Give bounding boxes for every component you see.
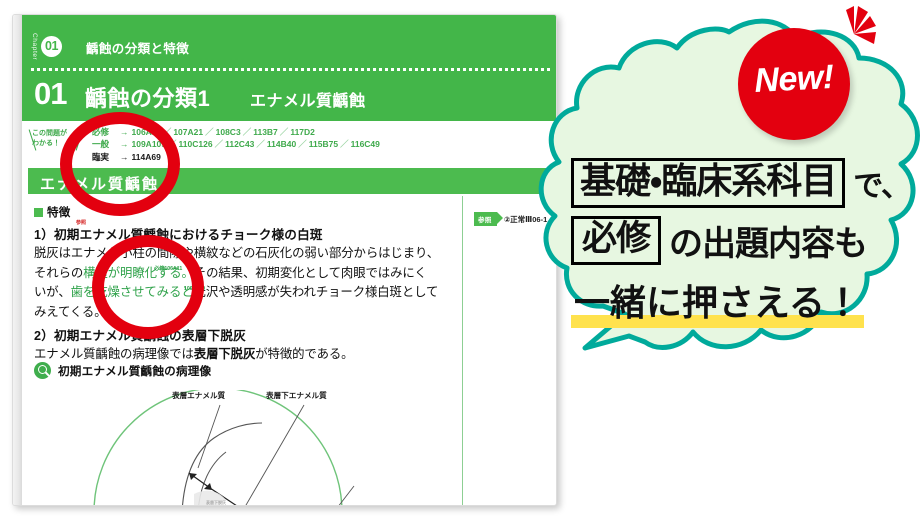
chapter-kicker-label: Chapter xyxy=(31,33,38,60)
ref-item: 114B40 xyxy=(267,139,296,149)
column-divider xyxy=(462,196,463,506)
item-2-number: 2） xyxy=(34,329,54,343)
item-1-text: 初期エナメル質齲蝕におけるチョーク様の白斑 xyxy=(54,228,323,242)
ref-separator: ／ xyxy=(254,139,267,149)
ref-separator: ／ xyxy=(203,127,216,137)
figure-label-subsurface-enamel: 表層下エナメル質 xyxy=(266,390,327,401)
svg-text:表層下脱灰: 表層下脱灰 xyxy=(206,499,226,505)
paragraph-line-3a: いが、 xyxy=(34,285,71,299)
ref-item: 116C49 xyxy=(351,139,380,149)
callout-line-2: 必修 の出題内容も xyxy=(571,216,891,265)
callout-line-1-tail: で、 xyxy=(853,161,910,205)
callout-text-block: 基礎・臨床系科目 で、 必修 の出題内容も 一緒に押さえる！ xyxy=(571,158,891,328)
ref-item: 115B75 xyxy=(309,139,338,149)
item-1-heading: 参照 1）初期エナメル質齲蝕におけるチョーク様の白斑 xyxy=(34,224,454,243)
page-body: 特徴 参照 1）初期エナメル質齲蝕におけるチョーク様の白斑 必修106A11 1… xyxy=(22,194,556,506)
red-circle-annotation-body-text xyxy=(92,235,204,339)
ref-separator: ／ xyxy=(213,139,226,149)
textbook-page-card: Chapter 01 齲蝕の分類と特徴 01 齲蝕の分類1 エナメル質齲蝕 この… xyxy=(12,14,557,506)
ref-item: 108C3 xyxy=(216,127,241,137)
figure-heading-text: 初期エナメル質齲蝕の病理像 xyxy=(58,363,211,379)
callout-boxed-subjects: 基礎・臨床系科目 xyxy=(571,158,845,208)
reference-chip: 参照 xyxy=(474,212,497,226)
chapter-band: Chapter 01 齲蝕の分類と特徴 xyxy=(22,15,556,71)
new-badge: New! xyxy=(738,28,850,140)
lesson-number: 01 xyxy=(34,76,66,112)
ref-item: 113B7 xyxy=(253,127,278,137)
ref-separator: ／ xyxy=(296,139,309,149)
ref-separator: ／ xyxy=(338,139,351,149)
lesson-title-sub: エナメル質齲蝕 xyxy=(250,87,366,111)
chapter-number-badge: 01 xyxy=(41,36,62,57)
ref-item: 107A21 xyxy=(173,127,203,137)
chapter-title: 齲蝕の分類と特徴 xyxy=(86,38,189,57)
item-1-number: 1） xyxy=(34,228,54,242)
paragraph-2a: エナメル質齲蝕の病理像では xyxy=(34,347,194,361)
paragraph-line-1: 脱灰はエナメル小柱の間隙や横紋などの石灰化の弱い部分からはじまり、 xyxy=(34,246,439,260)
item-2-heading: 2）初期エナメル質齲蝕の表層下脱灰 xyxy=(34,325,454,344)
ruby-annotation: 参照 xyxy=(76,219,86,226)
ref-item: 110C126 xyxy=(179,139,213,149)
figure-heading: 初期エナメル質齲蝕の病理像 xyxy=(34,362,211,379)
paragraph-line-2b: その結果、初期変化として肉眼ではみにく xyxy=(194,266,427,280)
paragraph-2b: が特徴的である。 xyxy=(255,347,353,361)
page-spine xyxy=(13,15,22,505)
paragraph-2-bold: 表層下脱灰 xyxy=(194,347,255,361)
paragraph-line-3b: 光沢や透明感が失われチョーク様白斑として xyxy=(194,285,439,299)
callout-boxed-required: 必修 xyxy=(571,216,661,265)
ref-separator: ／ xyxy=(278,127,291,137)
lesson-title-main: 齲蝕の分類1 xyxy=(85,81,210,113)
figure-label-surface-enamel: 表層エナメル質 xyxy=(172,390,225,401)
magnifier-icon xyxy=(34,362,51,379)
bullet-square-icon xyxy=(34,208,43,217)
red-circle-annotation-references xyxy=(60,112,180,216)
callout-highlighted-text: 一緒に押さえる！ xyxy=(571,274,864,328)
features-heading-text: 特徴 xyxy=(47,207,71,219)
callout-line-3: 一緒に押さえる！ xyxy=(571,274,891,328)
figure-drawing: 表層下脱灰 xyxy=(34,390,454,506)
ref-item: 112C43 xyxy=(225,139,254,149)
new-badge-label: New! xyxy=(737,57,851,102)
callout-line-2-tail: の出題内容も xyxy=(669,216,867,265)
callout-line-1: 基礎・臨床系科目 で、 xyxy=(571,158,891,208)
ref-separator: ／ xyxy=(241,127,254,137)
pathology-figure: 表層エナメル質 表層下エナメル質 表層下脱灰 xyxy=(34,390,454,506)
callout-speech-bubble: 基礎・臨床系科目 で、 必修 の出題内容も 一緒に押さえる！ xyxy=(533,18,922,398)
paragraph-line-2a: それらの xyxy=(34,266,83,280)
ref-item: 117D2 xyxy=(290,127,315,137)
